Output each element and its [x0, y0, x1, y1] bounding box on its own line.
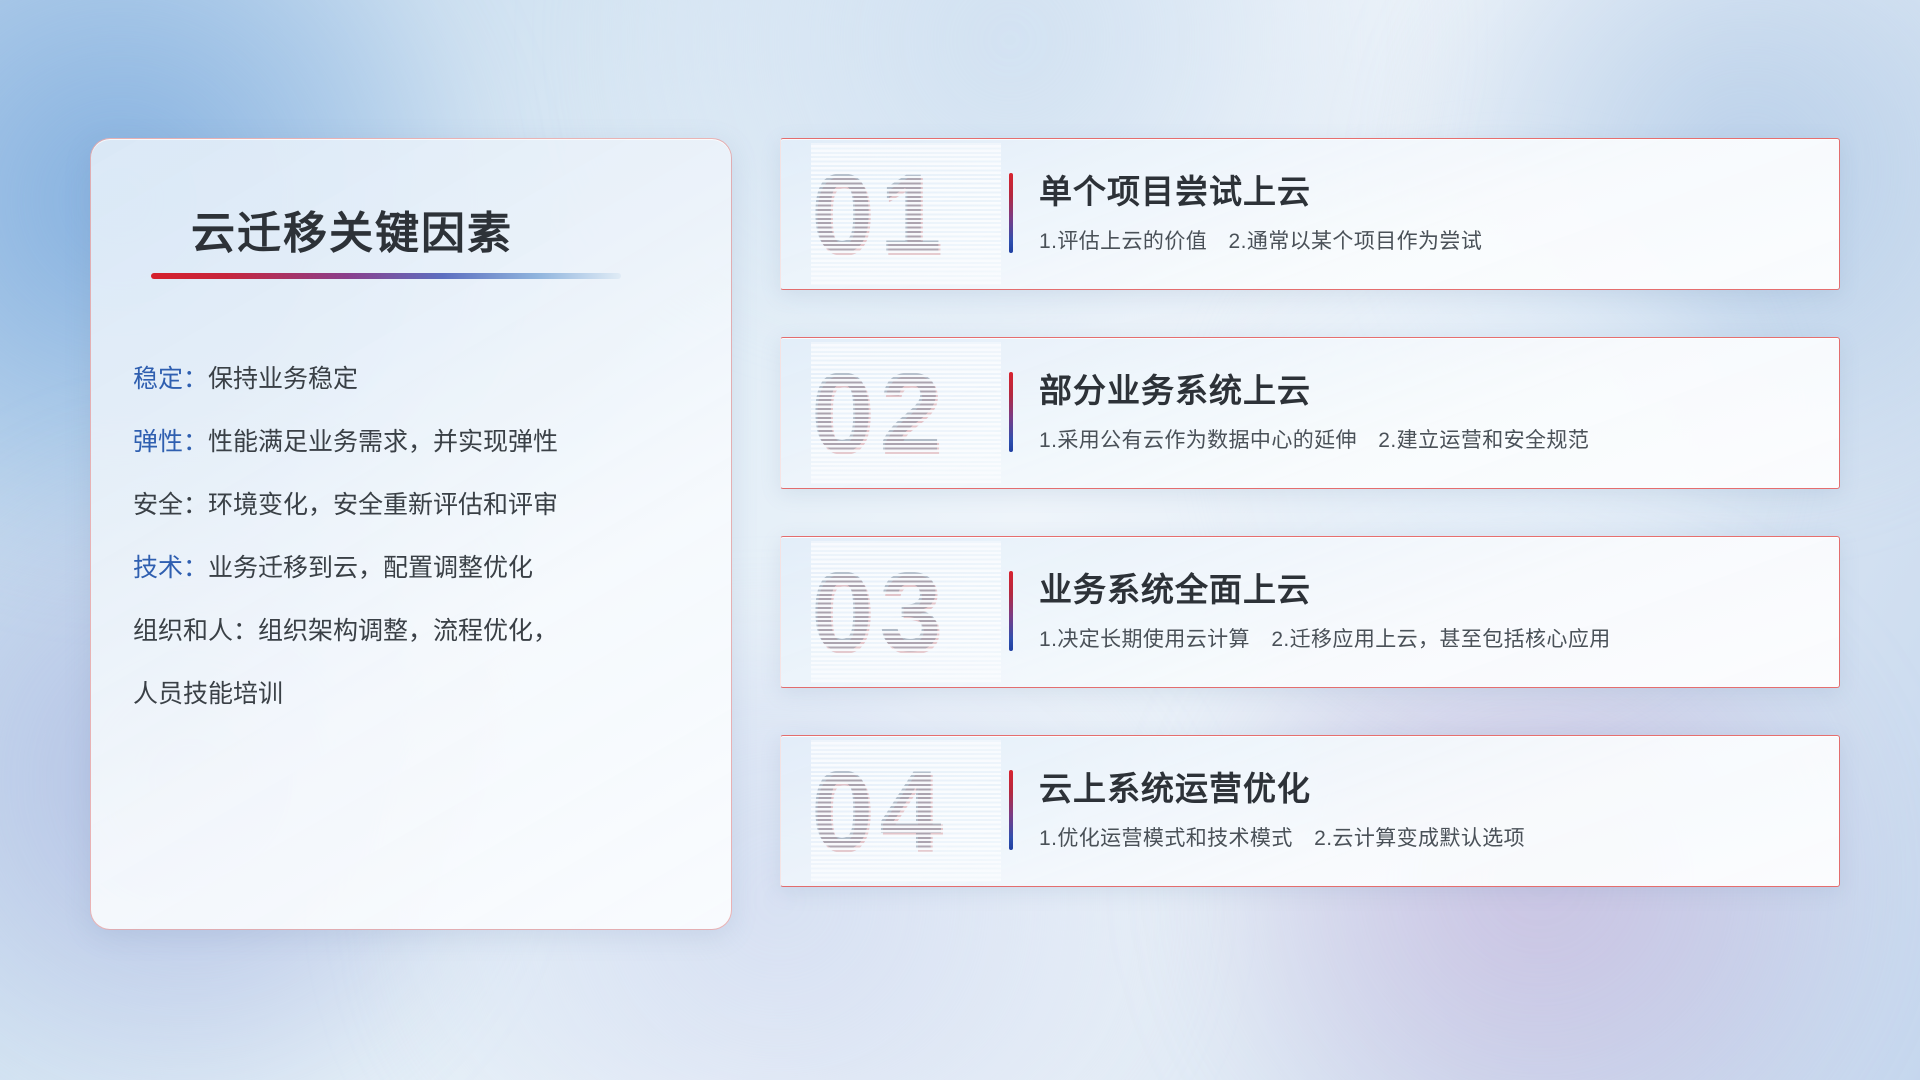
- key-factor-label: 组织和人：: [133, 617, 258, 645]
- title-underline-accent: [151, 273, 621, 279]
- key-factor-row: 组织和人：组织架构调整，流程优化，: [133, 619, 703, 644]
- key-factor-label: 技术：: [133, 554, 208, 582]
- key-factor-value: 业务迁移到云，配置调整优化: [208, 554, 533, 582]
- stage-card[interactable]: 0202部分业务系统上云1.采用公有云作为数据中心的延伸 2.建立运营和安全规范: [780, 337, 1840, 489]
- stage-accent-bar: [1009, 770, 1013, 850]
- stage-number-watermark: 0303: [811, 541, 1001, 683]
- stage-card[interactable]: 0404云上系统运营优化1.优化运营模式和技术模式 2.云计算变成默认选项: [780, 735, 1840, 887]
- key-factor-row: 弹性：性能满足业务需求，并实现弹性: [133, 430, 703, 455]
- key-factor-label: 稳定：: [133, 365, 208, 393]
- stage-title: 业务系统全面上云: [1039, 563, 1311, 611]
- stage-subtitle: 1.采用公有云作为数据中心的延伸 2.建立运营和安全规范: [1039, 424, 1589, 454]
- key-factor-value: 保持业务稳定: [208, 365, 358, 393]
- stage-card-list: 0101单个项目尝试上云1.评估上云的价值 2.通常以某个项目作为尝试0202部…: [780, 138, 1840, 887]
- stage-number-watermark: 0404: [811, 740, 1001, 882]
- page-title: 云迁移关键因素: [191, 197, 513, 261]
- key-factor-row: 技术：业务迁移到云，配置调整优化: [133, 556, 703, 581]
- stage-title: 部分业务系统上云: [1039, 364, 1311, 412]
- key-factor-label: 弹性：: [133, 428, 208, 456]
- stage-title: 单个项目尝试上云: [1039, 165, 1311, 213]
- stage-number-fade: [811, 342, 1001, 484]
- stage-subtitle: 1.优化运营模式和技术模式 2.云计算变成默认选项: [1039, 822, 1525, 852]
- stage-number-watermark: 0101: [811, 143, 1001, 285]
- stage-subtitle: 1.评估上云的价值 2.通常以某个项目作为尝试: [1039, 225, 1482, 255]
- stage-number-fade: [811, 740, 1001, 882]
- stage-number-watermark: 0202: [811, 342, 1001, 484]
- key-factor-row: 人员技能培训: [133, 682, 703, 707]
- stage-number-fade: [811, 541, 1001, 683]
- key-factor-label: 安全：: [133, 491, 208, 519]
- stage-subtitle: 1.决定长期使用云计算 2.迁移应用上云，甚至包括核心应用: [1039, 623, 1611, 653]
- key-factors-list: 稳定：保持业务稳定弹性：性能满足业务需求，并实现弹性安全：环境变化，安全重新评估…: [133, 367, 703, 707]
- key-factor-value: 性能满足业务需求，并实现弹性: [208, 428, 558, 456]
- key-factors-panel: 云迁移关键因素 稳定：保持业务稳定弹性：性能满足业务需求，并实现弹性安全：环境变…: [90, 138, 732, 930]
- key-factor-row: 稳定：保持业务稳定: [133, 367, 703, 392]
- stage-card[interactable]: 0101单个项目尝试上云1.评估上云的价值 2.通常以某个项目作为尝试: [780, 138, 1840, 290]
- stage-accent-bar: [1009, 173, 1013, 253]
- key-factor-value: 环境变化，安全重新评估和评审: [208, 491, 558, 519]
- stage-accent-bar: [1009, 372, 1013, 452]
- key-factor-value: 人员技能培训: [133, 680, 283, 708]
- stage-card[interactable]: 0303业务系统全面上云1.决定长期使用云计算 2.迁移应用上云，甚至包括核心应…: [780, 536, 1840, 688]
- stage-number-fade: [811, 143, 1001, 285]
- key-factor-row: 安全：环境变化，安全重新评估和评审: [133, 493, 703, 518]
- key-factor-value: 组织架构调整，流程优化，: [258, 617, 558, 645]
- stage-title: 云上系统运营优化: [1039, 762, 1311, 810]
- stage-accent-bar: [1009, 571, 1013, 651]
